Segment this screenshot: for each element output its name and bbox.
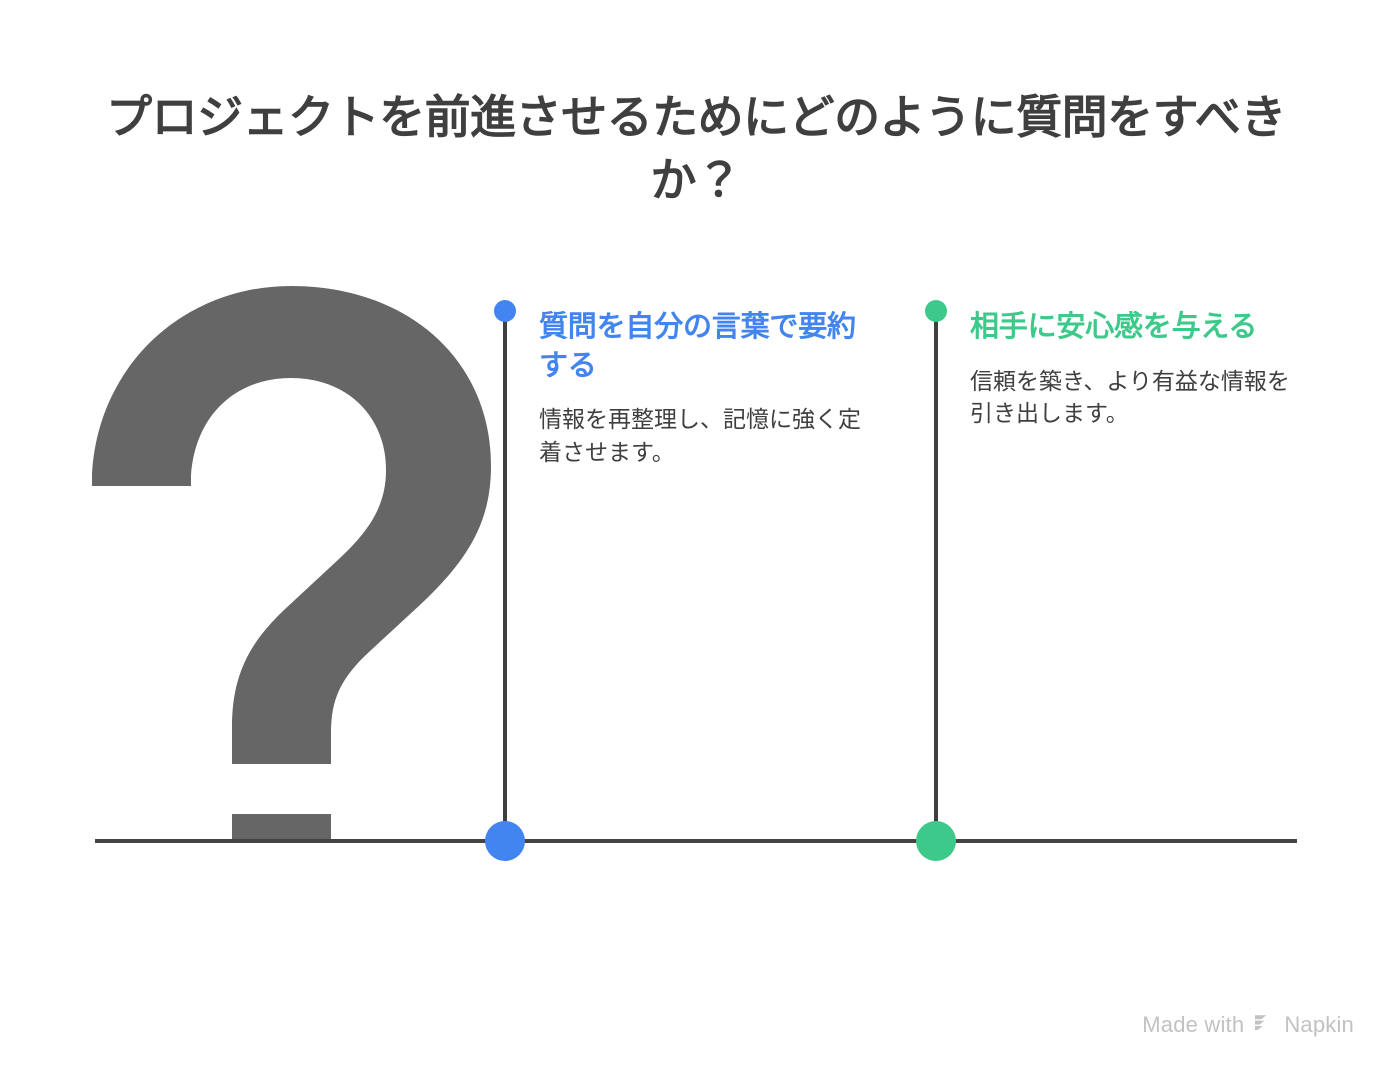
timeline-stem-1 xyxy=(503,311,507,841)
timeline-description-2: 信頼を築き、より有益な情報を引き出します。 xyxy=(970,365,1300,431)
watermark-prefix-label: Made with xyxy=(1142,1014,1244,1036)
watermark-brand-label: Napkin xyxy=(1284,1014,1354,1036)
page-title: プロジェクトを前進させるためにどのように質問をすべきか？ xyxy=(72,86,1320,211)
timeline-stem-2 xyxy=(934,311,938,841)
timeline-axis xyxy=(95,839,1297,843)
timeline-base-marker-1[interactable] xyxy=(485,821,525,861)
timeline-top-marker-2 xyxy=(925,300,947,322)
timeline-top-marker-1 xyxy=(494,300,516,322)
napkin-watermark[interactable]: Made with Napkin xyxy=(1142,1012,1354,1038)
question-mark-icon xyxy=(88,286,508,841)
timeline-text-block-2: 相手に安心感を与える 信頼を築き、より有益な情報を引き出します。 xyxy=(970,308,1300,430)
timeline-heading-1: 質問を自分の言葉で要約する xyxy=(539,308,869,385)
timeline-description-1: 情報を再整理し、記憶に強く定着させます。 xyxy=(539,403,869,469)
timeline-base-marker-2[interactable] xyxy=(916,821,956,861)
napkin-logo-icon xyxy=(1253,1012,1275,1038)
timeline-heading-2: 相手に安心感を与える xyxy=(970,308,1300,347)
timeline-text-block-1: 質問を自分の言葉で要約する 情報を再整理し、記憶に強く定着させます。 xyxy=(539,308,869,469)
infographic-canvas: プロジェクトを前進させるためにどのように質問をすべきか？ 質問を自分の言葉で要約… xyxy=(0,0,1392,1080)
